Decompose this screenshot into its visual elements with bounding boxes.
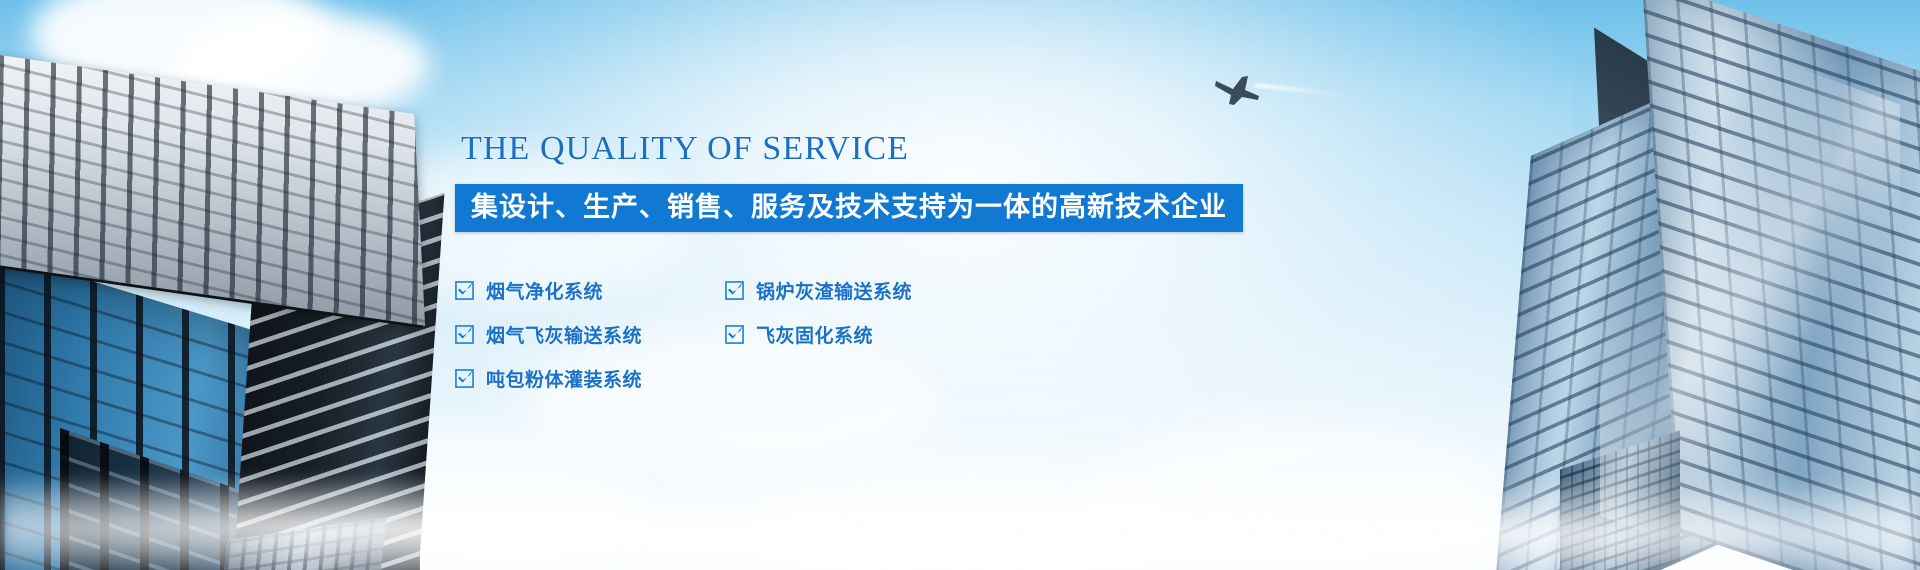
list-item-label: 锅炉灰渣输送系统: [756, 277, 912, 304]
list-item-label: 吨包粉体灌装系统: [486, 365, 642, 392]
contrail: [1255, 83, 1345, 96]
airplane-icon: [1212, 72, 1264, 106]
checkbox-checked-icon[interactable]: [455, 325, 474, 344]
list-item[interactable]: 烟气净化系统: [455, 277, 725, 304]
hero-banner: THE QUALITY OF SERVICE 集设计、生产、销售、服务及技术支持…: [0, 0, 1920, 570]
list-item-label: 烟气净化系统: [486, 277, 603, 304]
left-building: [0, 60, 500, 570]
feature-list: 烟气净化系统 锅炉灰渣输送系统 烟气飞灰输送系统: [455, 268, 1415, 400]
list-item-label: 烟气飞灰输送系统: [486, 321, 642, 348]
banner-content: THE QUALITY OF SERVICE 集设计、生产、销售、服务及技术支持…: [455, 132, 1415, 400]
list-item[interactable]: 烟气飞灰输送系统: [455, 321, 725, 348]
list-item[interactable]: 锅炉灰渣输送系统: [725, 277, 995, 304]
checkbox-checked-icon[interactable]: [455, 369, 474, 388]
right-building: [1360, 10, 1920, 570]
subtitle-bar: 集设计、生产、销售、服务及技术支持为一体的高新技术企业: [455, 184, 1243, 232]
checkbox-checked-icon[interactable]: [725, 281, 744, 300]
list-item[interactable]: 飞灰固化系统: [725, 321, 995, 348]
list-item-label: 飞灰固化系统: [756, 321, 873, 348]
checkbox-checked-icon[interactable]: [725, 325, 744, 344]
list-item[interactable]: 吨包粉体灌装系统: [455, 365, 725, 392]
right-building-right-facade: [1642, 0, 1920, 570]
right-building-right-window-grid: [1642, 0, 1920, 570]
checkbox-checked-icon[interactable]: [455, 281, 474, 300]
page-title: THE QUALITY OF SERVICE: [461, 132, 1415, 166]
